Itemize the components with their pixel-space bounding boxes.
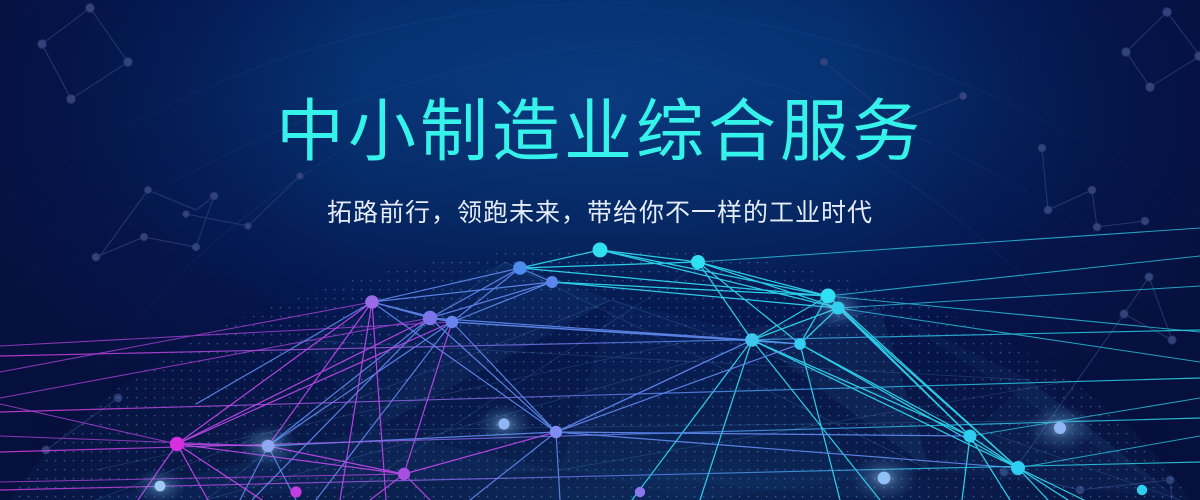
dome-node (1054, 422, 1066, 434)
hero-banner: 中小制造业综合服务 拓路前行，领跑未来，带给你不一样的工业时代 (0, 0, 1200, 500)
dome-node (423, 311, 437, 325)
dome-node (365, 295, 379, 309)
dome-node (878, 472, 891, 485)
dome-node (794, 338, 806, 350)
dome-node (546, 276, 558, 288)
dome-node (635, 487, 645, 497)
dome-node (513, 261, 527, 275)
dome-node (964, 430, 977, 443)
dome-node (398, 468, 410, 480)
dome-node (821, 289, 836, 304)
dome-node (691, 255, 705, 269)
dome-node (550, 426, 562, 438)
dome-node (832, 302, 845, 315)
dome-network-layer (0, 0, 1200, 500)
dome-node (446, 316, 458, 328)
dome-node (1137, 485, 1147, 495)
dome-node (262, 440, 274, 452)
dome-node (498, 418, 509, 429)
dome-node (170, 437, 184, 451)
dome-node (745, 333, 759, 347)
dome-node (1011, 461, 1025, 475)
dome-node (155, 481, 166, 492)
dome-node (593, 243, 608, 258)
dome-node (290, 486, 301, 497)
